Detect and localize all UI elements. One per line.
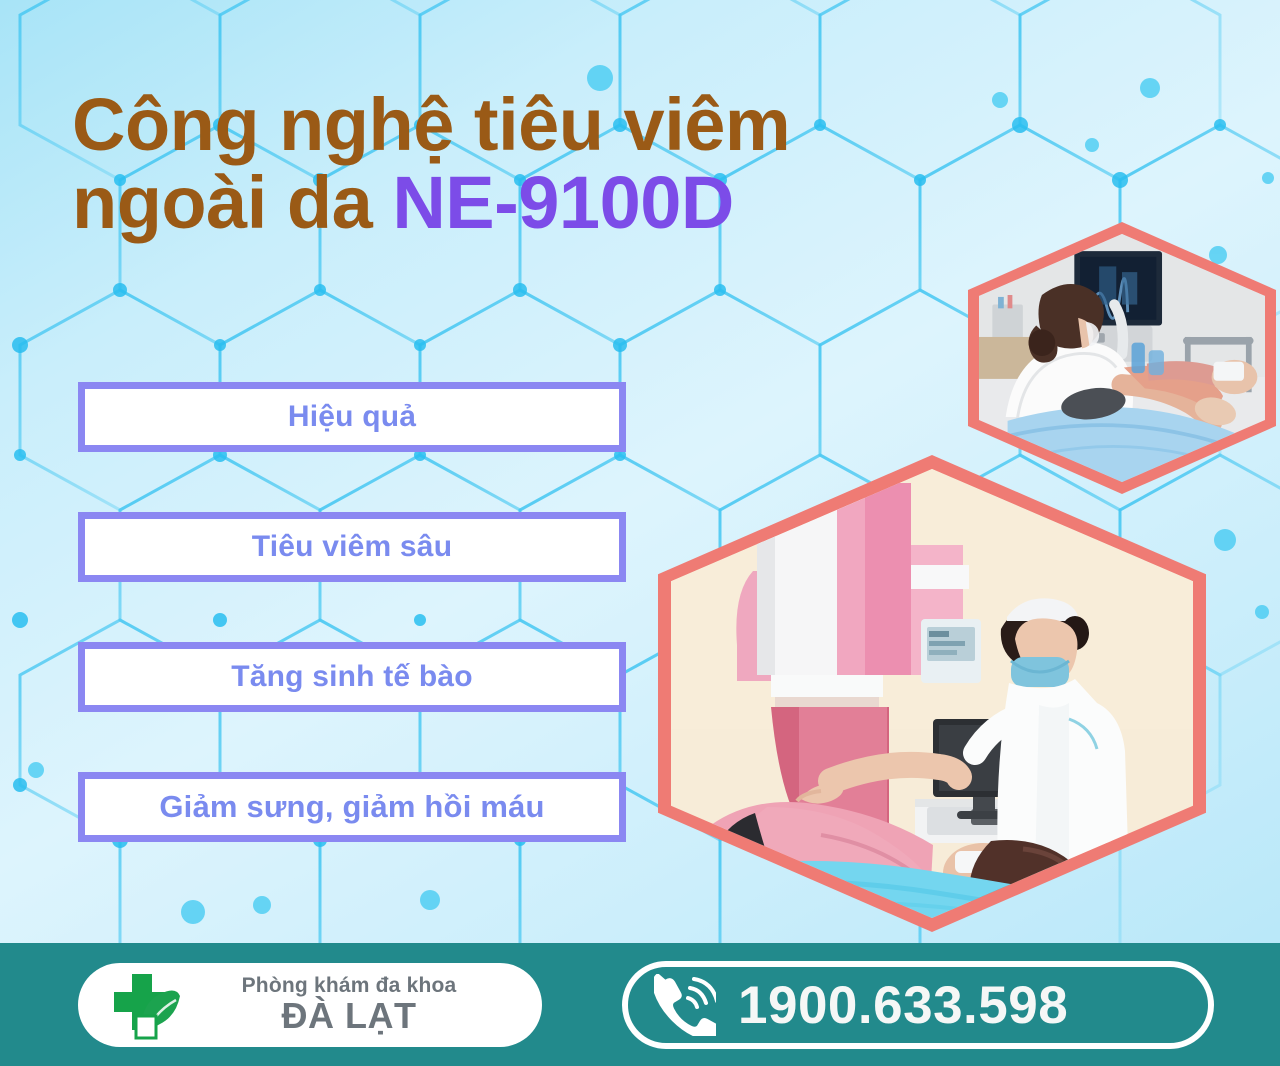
headline-line-2: ngoài da NE-9100D	[72, 164, 1002, 242]
photo-clip	[671, 469, 1193, 918]
feature-list: Hiệu quả Tiêu viêm sâu Tăng sinh tế bào …	[78, 382, 626, 902]
feature-item-label: Giảm sưng, giảm hồi máu	[159, 789, 544, 825]
feature-item-2[interactable]: Tiêu viêm sâu	[78, 512, 626, 582]
photo-artwork	[671, 469, 1193, 918]
product-model-name: NE-9100D	[392, 161, 734, 244]
feature-item-1[interactable]: Hiệu quả	[78, 382, 626, 452]
feature-item-label: Hiệu quả	[288, 400, 416, 434]
photo-artwork	[979, 234, 1265, 482]
headline-line-1: Công nghệ tiêu viêm	[72, 86, 1002, 164]
headline-line-2-prefix: ngoài da	[72, 161, 392, 244]
clinic-subtitle: Phòng khám đa khoa	[182, 975, 516, 997]
clinic-name-block: Phòng khám đa khoa ĐÀ LẠT	[182, 975, 542, 1035]
hotline-button[interactable]: 1900.633.598	[622, 961, 1214, 1049]
feature-item-4[interactable]: Giảm sưng, giảm hồi máu	[78, 772, 626, 842]
clinic-logo-pill[interactable]: Phòng khám đa khoa ĐÀ LẠT	[78, 963, 542, 1047]
phone-ringing-icon	[654, 974, 716, 1036]
hotline-number: 1900.633.598	[738, 975, 1068, 1036]
feature-item-label: Tăng sinh tế bào	[231, 660, 473, 694]
page-title: Công nghệ tiêu viêm ngoài da NE-9100D	[72, 86, 1002, 243]
green-cross-leaf-icon	[108, 970, 182, 1040]
feature-item-3[interactable]: Tăng sinh tế bào	[78, 642, 626, 712]
clinic-name: ĐÀ LẠT	[182, 997, 516, 1035]
photo-clip	[979, 234, 1265, 482]
banner-root: Công nghệ tiêu viêm ngoài da NE-9100D Hi…	[0, 0, 1280, 1066]
footer-bar: Phòng khám đa khoa ĐÀ LẠT 1900.633.598	[0, 943, 1280, 1066]
feature-item-label: Tiêu viêm sâu	[252, 530, 452, 564]
